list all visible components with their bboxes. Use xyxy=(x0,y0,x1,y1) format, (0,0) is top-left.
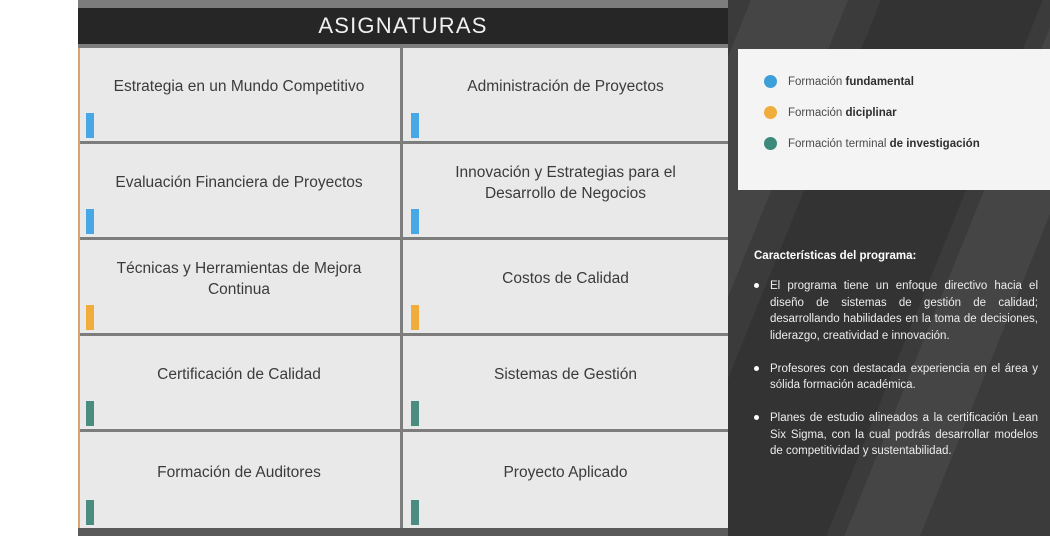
course-card-label: Innovación y Estrategias para el Desarro… xyxy=(429,163,702,205)
legend-label-prefix: Formación xyxy=(788,107,846,119)
bullet-icon xyxy=(754,366,759,371)
course-card[interactable]: Técnicas y Herramientas de Mejora Contin… xyxy=(78,240,403,336)
course-card[interactable]: Costos de Calidad xyxy=(403,240,728,336)
course-card[interactable]: Evaluación Financiera de Proyectos xyxy=(78,144,403,240)
characteristics-title: Características del programa: xyxy=(754,250,1038,262)
course-accent-bar xyxy=(411,401,419,426)
course-card-label: Costos de Calidad xyxy=(502,269,629,290)
legend-dot-icon xyxy=(764,106,777,119)
course-card-label: Proyecto Aplicado xyxy=(503,463,627,484)
legend-label-strong: fundamental xyxy=(846,76,914,88)
course-accent-bar xyxy=(86,113,94,138)
course-accent-bar xyxy=(86,401,94,426)
characteristics-item-text: Planes de estudio alineados a la certifi… xyxy=(770,410,1038,460)
slide-canvas: ASIGNATURAS Estrategia en un Mundo Compe… xyxy=(0,0,1050,536)
legend-item-label: Formación fundamental xyxy=(788,76,914,88)
characteristics-item-text: El programa tiene un enfoque directivo h… xyxy=(770,278,1038,345)
legend-item: Formación terminal de investigación xyxy=(764,137,1050,150)
characteristics-block: Características del programa: El program… xyxy=(754,250,1038,476)
bullet-icon xyxy=(754,283,759,288)
course-card-label: Formación de Auditores xyxy=(157,463,321,484)
legend-dot-icon xyxy=(764,137,777,150)
legend-dot-icon xyxy=(764,75,777,88)
info-panel: Formación fundamentalFormación diciplina… xyxy=(728,0,1050,536)
course-card-label: Evaluación Financiera de Proyectos xyxy=(115,173,362,194)
course-card[interactable]: Formación de Auditores xyxy=(78,432,403,528)
course-card-label: Certificación de Calidad xyxy=(157,365,321,386)
course-card-label: Técnicas y Herramientas de Mejora Contin… xyxy=(104,259,374,301)
course-card[interactable]: Sistemas de Gestión xyxy=(403,336,728,432)
legend-card: Formación fundamentalFormación diciplina… xyxy=(738,49,1050,190)
course-card[interactable]: Innovación y Estrategias para el Desarro… xyxy=(403,144,728,240)
course-accent-bar xyxy=(411,113,419,138)
course-card[interactable]: Certificación de Calidad xyxy=(78,336,403,432)
legend-label-prefix: Formación terminal xyxy=(788,138,890,150)
course-card[interactable]: Estrategia en un Mundo Competitivo xyxy=(78,48,403,144)
course-card[interactable]: Administración de Proyectos xyxy=(403,48,728,144)
legend-label-strong: de investigación xyxy=(890,138,980,150)
legend-label-strong: diciplinar xyxy=(846,107,897,119)
page-title: ASIGNATURAS xyxy=(318,15,487,37)
course-grid: Estrategia en un Mundo CompetitivoAdmini… xyxy=(78,48,728,528)
course-accent-bar xyxy=(86,500,94,525)
grid-left-accent-edge xyxy=(78,48,80,528)
legend-item-label: Formación diciplinar xyxy=(788,107,897,119)
bullet-icon xyxy=(754,415,759,420)
header-bar: ASIGNATURAS xyxy=(78,8,728,44)
characteristics-item: Profesores con destacada experiencia en … xyxy=(754,361,1038,394)
header-top-strip xyxy=(78,0,728,8)
legend-item: Formación fundamental xyxy=(764,75,1050,88)
characteristics-item: Planes de estudio alineados a la certifi… xyxy=(754,410,1038,460)
grid-bottom-bar xyxy=(78,528,728,536)
course-card[interactable]: Proyecto Aplicado xyxy=(403,432,728,528)
course-accent-bar xyxy=(86,209,94,234)
slide-main-area: ASIGNATURAS Estrategia en un Mundo Compe… xyxy=(0,0,728,536)
course-card-label: Sistemas de Gestión xyxy=(494,365,637,386)
course-accent-bar xyxy=(411,305,419,330)
course-accent-bar xyxy=(86,305,94,330)
characteristics-item-text: Profesores con destacada experiencia en … xyxy=(770,361,1038,394)
legend-item-label: Formación terminal de investigación xyxy=(788,138,980,150)
course-accent-bar xyxy=(411,500,419,525)
characteristics-list: El programa tiene un enfoque directivo h… xyxy=(754,278,1038,460)
course-card-label: Estrategia en un Mundo Competitivo xyxy=(114,77,365,98)
characteristics-item: El programa tiene un enfoque directivo h… xyxy=(754,278,1038,345)
course-card-label: Administración de Proyectos xyxy=(467,77,663,98)
course-accent-bar xyxy=(411,209,419,234)
legend-label-prefix: Formación xyxy=(788,76,846,88)
legend-item: Formación diciplinar xyxy=(764,106,1050,119)
